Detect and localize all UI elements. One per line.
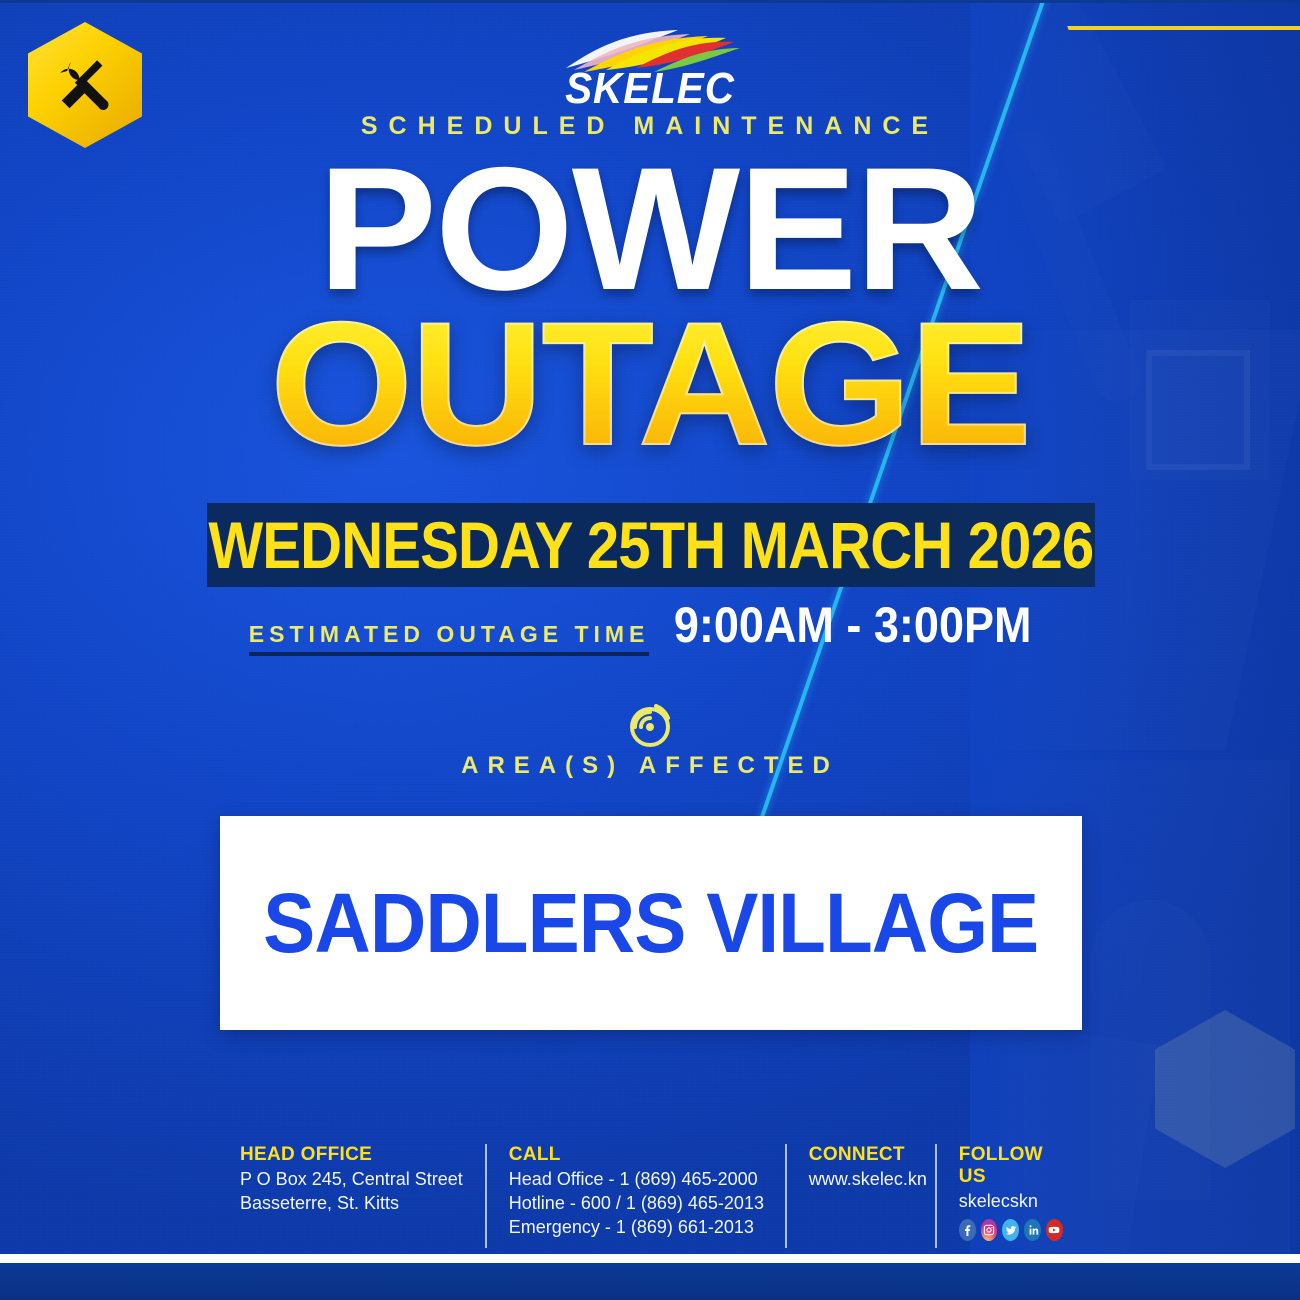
footer-connect-title: CONNECT xyxy=(809,1144,913,1166)
footer-head-office-line-2: Basseterre, St. Kitts xyxy=(240,1192,463,1216)
skelec-wordmark: SKELEC xyxy=(558,64,742,114)
footer-connect: CONNECT www.skelec.kn xyxy=(785,1144,935,1248)
estimated-outage-time-label: ESTIMATED OUTAGE TIME xyxy=(249,621,650,656)
footer-call-line-3[interactable]: Emergency - 1 (869) 661-2013 xyxy=(509,1216,763,1240)
footer-follow-us: FOLLOW US skelecskn xyxy=(935,1144,1085,1248)
footer-head-office-title: HEAD OFFICE xyxy=(240,1144,463,1166)
footer-call: CALL Head Office - 1 (869) 465-2000 Hotl… xyxy=(485,1144,785,1248)
headline-outage: OUTAGE xyxy=(0,297,1300,472)
bottom-blue-bar xyxy=(0,1263,1300,1300)
affected-area-box: SADDLERS VILLAGE xyxy=(220,816,1082,1030)
linkedin-icon[interactable] xyxy=(1024,1219,1041,1241)
footer-call-line-2[interactable]: Hotline - 600 / 1 (869) 465-2013 xyxy=(509,1192,763,1216)
footer-head-office: HEAD OFFICE P O Box 245, Central Street … xyxy=(240,1144,485,1248)
footer-social-handle: skelecskn xyxy=(959,1190,1063,1214)
outage-date: WEDNESDAY 25TH MARCH 2026 xyxy=(209,507,1094,583)
footer-call-line-1[interactable]: Head Office - 1 (869) 465-2000 xyxy=(509,1168,763,1192)
estimated-outage-time-value: 9:00AM - 3:00PM xyxy=(674,596,1032,654)
footer-call-title: CALL xyxy=(509,1144,763,1166)
facebook-icon[interactable] xyxy=(959,1219,976,1241)
footer-head-office-line-1: P O Box 245, Central Street xyxy=(240,1168,463,1192)
youtube-icon[interactable] xyxy=(1046,1219,1063,1241)
footer-website-link[interactable]: www.skelec.kn xyxy=(809,1168,913,1192)
outage-date-banner: WEDNESDAY 25TH MARCH 2026 xyxy=(207,503,1095,587)
area-affected-label: AREA(S) AFFECTED xyxy=(0,752,1300,780)
estimated-outage-time-block: ESTIMATED OUTAGE TIME 9:00AM - 3:00PM xyxy=(0,592,1300,656)
instagram-icon[interactable] xyxy=(981,1219,998,1241)
footer: HEAD OFFICE P O Box 245, Central Street … xyxy=(240,1144,1070,1248)
affected-area-name: SADDLERS VILLAGE xyxy=(263,875,1038,972)
radar-signal-icon xyxy=(0,697,1300,753)
social-links xyxy=(959,1219,1063,1241)
power-outage-notice-poster: SKELEC SCHEDULED MAINTENANCE POWER OUTAG… xyxy=(0,0,1300,1300)
footer-follow-title: FOLLOW US xyxy=(959,1144,1063,1188)
twitter-icon[interactable] xyxy=(1002,1219,1019,1241)
top-edge-line xyxy=(0,0,1300,3)
bottom-white-divider xyxy=(0,1254,1300,1263)
skelec-logo: SKELEC xyxy=(0,26,1300,108)
